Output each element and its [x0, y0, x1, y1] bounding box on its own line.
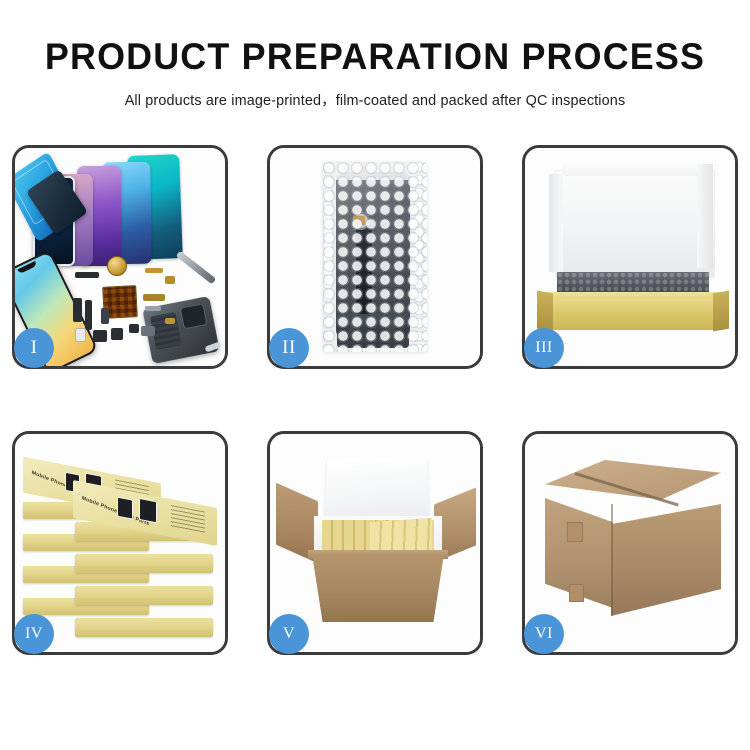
part-silver-strip-icon: [145, 306, 161, 311]
process-step-panel-6[interactable]: VI: [522, 431, 738, 655]
carton-tape-patch-upper: [567, 522, 583, 542]
part-bracket-icon: [165, 276, 175, 284]
carton-front-wall: [312, 554, 444, 622]
tape-piece-mid: [353, 216, 365, 225]
part-gold-clip-icon: [165, 318, 175, 324]
carton-right-face: [611, 504, 721, 616]
process-step-panel-2[interactable]: II: [267, 145, 483, 369]
foam-lid-open: [325, 458, 430, 523]
bubble-wrap-bag: [323, 162, 427, 352]
step-badge-6: VI: [524, 614, 564, 654]
yellow-box-front: [541, 298, 725, 330]
step-badge-4: IV: [14, 614, 54, 654]
part-small-chip-icon: [129, 324, 139, 333]
part-module-icon: [111, 328, 123, 340]
stacked-box-r3: [75, 586, 213, 605]
yellow-box-stack: Mobile Phone Spare Parts Mobile Phone Sp…: [23, 450, 223, 636]
page-title: PRODUCT PREPARATION PROCESS: [11, 38, 739, 77]
white-foam-lid: [555, 170, 715, 278]
process-steps-grid: I II III: [12, 145, 738, 679]
process-step-panel-5[interactable]: V: [267, 431, 483, 655]
carton-tape-patch-lower: [569, 584, 584, 602]
part-flex-cable-2-icon: [85, 300, 92, 330]
carton-corner-edge: [611, 504, 613, 616]
box-art-phone-4-icon: [139, 498, 157, 523]
step-badge-2: II: [269, 328, 309, 368]
step-badge-5: V: [269, 614, 309, 654]
box-spec-text-block-front: [171, 505, 205, 534]
box-art-phone-3-icon: [117, 497, 133, 520]
part-flex-cable-icon: [73, 298, 82, 322]
page-subtitle: All products are image-printed，film-coat…: [0, 89, 750, 110]
sealed-carton: [545, 460, 721, 616]
process-step-panel-4[interactable]: Mobile Phone Spare Parts Mobile Phone Sp…: [12, 431, 228, 655]
part-gold-strip-icon: [143, 294, 165, 301]
process-step-panel-3[interactable]: III: [522, 145, 738, 369]
page-header: PRODUCT PREPARATION PROCESS All products…: [0, 0, 750, 110]
step-badge-3: III: [524, 328, 564, 368]
stacked-box-r2: [75, 554, 213, 573]
part-ribbon-icon: [101, 308, 109, 324]
part-housing-icon: [141, 326, 155, 336]
part-connector-icon: [145, 268, 163, 273]
step-badge-1: I: [14, 328, 54, 368]
part-speaker-icon: [75, 272, 99, 278]
stacked-box-r4: [75, 618, 213, 637]
foam-side-wall: [697, 164, 713, 268]
screwdriver-icon: [176, 251, 217, 285]
bag-seal-edge: [333, 162, 417, 180]
screen-flex-cable: [356, 224, 372, 316]
vibration-motor-icon: [107, 256, 127, 276]
part-camera-icon: [93, 330, 107, 342]
process-step-panel-1[interactable]: I: [12, 145, 228, 369]
part-sim-tray-icon: [75, 328, 86, 342]
connector-block: [337, 314, 409, 348]
